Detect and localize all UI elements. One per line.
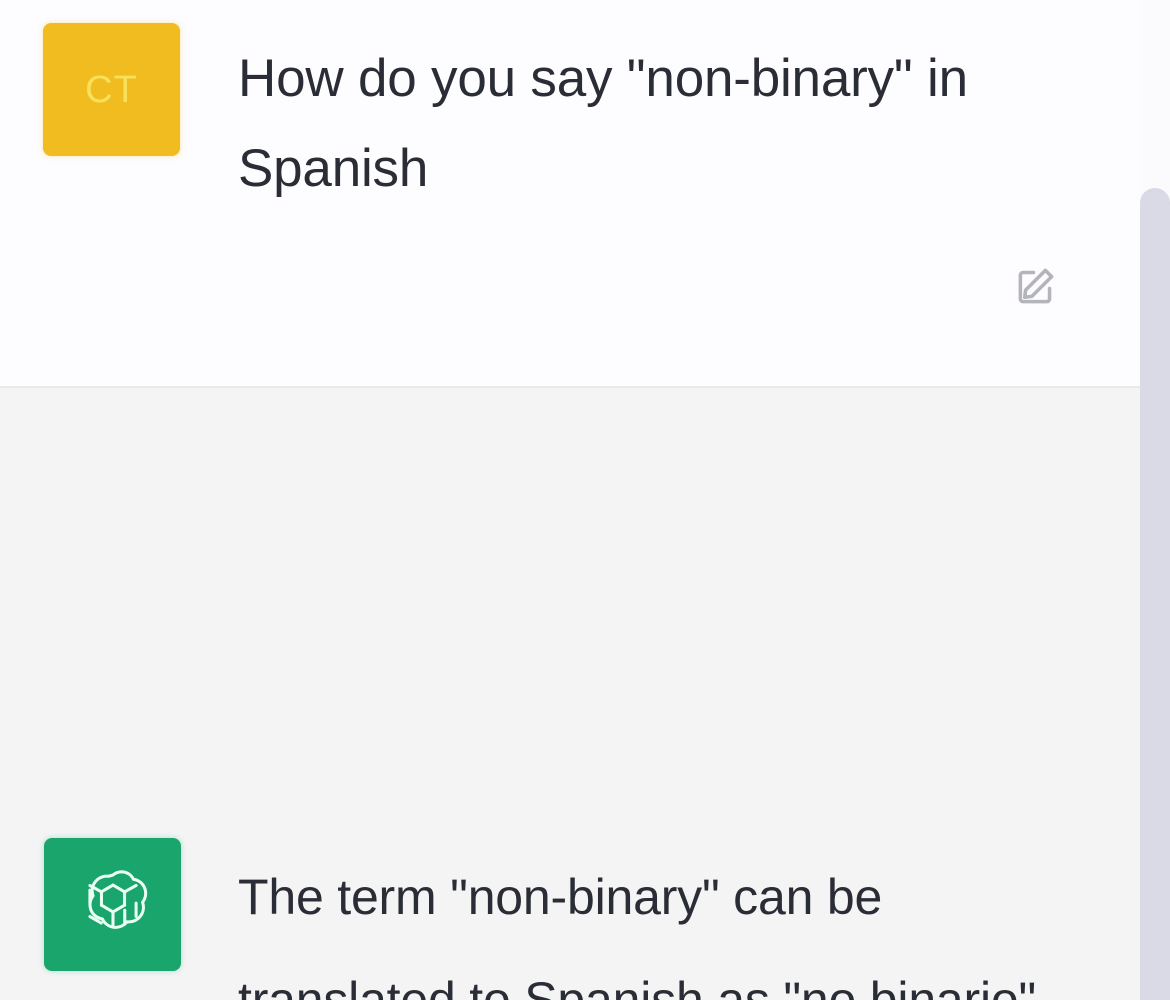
user-message-text: How do you say "non-binary" in Spanish — [238, 34, 1068, 214]
chat-conversation-view: CT How do you say "non-binary" in Spanis… — [0, 0, 1170, 1000]
scrollbar-thumb[interactable] — [1140, 188, 1170, 1000]
edit-message-button[interactable] — [1008, 258, 1064, 314]
avatar-assistant — [44, 838, 181, 971]
message-inner-assistant: The term "non-binary" can be translated … — [0, 386, 1170, 1000]
avatar-user: CT — [43, 23, 180, 156]
avatar-initials: CT — [85, 71, 138, 109]
message-row-assistant: The term "non-binary" can be translated … — [0, 386, 1170, 1000]
edit-square-pencil-icon — [1011, 261, 1061, 311]
message-inner-user: CT How do you say "non-binary" in Spanis… — [0, 0, 1170, 386]
scrollbar-track[interactable] — [1140, 0, 1170, 1000]
assistant-message-text: The term "non-binary" can be translated … — [238, 846, 1078, 1000]
openai-logo-icon — [70, 862, 156, 948]
message-row-user: CT How do you say "non-binary" in Spanis… — [0, 0, 1170, 386]
